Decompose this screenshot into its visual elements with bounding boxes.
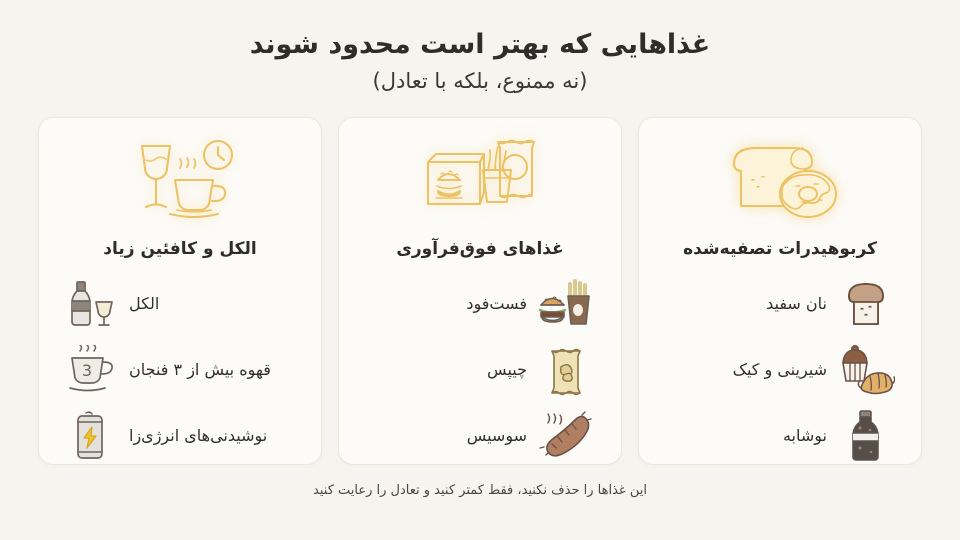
list-item-label: سوسیس [361, 425, 537, 447]
list-item: فست‌فود [351, 276, 609, 332]
footer-note: این غذاها را حذف نکنید، فقط کمتر کنید و … [0, 483, 960, 498]
card-items: فست‌فود چیپس [351, 276, 609, 464]
burger-fries-icon [537, 277, 595, 331]
liquor-bottle-wine-glass-icon [61, 277, 119, 331]
energy-drink-can-icon [61, 409, 119, 463]
list-item: 3 قهوه بیش از ۳ فنجان [51, 342, 309, 398]
cards-row: الکل و کافئین زیاد الکل [38, 117, 922, 465]
list-item: چیپس [351, 342, 609, 398]
list-item: الکل [51, 276, 309, 332]
card-title: غذاهای فوق‌فرآوری [396, 238, 563, 260]
card-items: الکل 3 قهوه بیش از [51, 276, 309, 464]
list-item-label: قهوه بیش از ۳ فنجان [119, 359, 295, 381]
fastfood-box-chips-bag-icon [414, 134, 546, 224]
page-subtitle: (نه ممنوع، بلکه با تعادل) [0, 68, 960, 95]
list-item: نوشیدنی‌های انرژی‌زا [51, 408, 309, 464]
card-items: نان سفید [651, 276, 909, 464]
list-item-label: شیرینی و کیک [661, 359, 837, 381]
bread-loaf-donut-icon [714, 134, 846, 224]
list-item-label: فست‌فود [361, 293, 537, 315]
infographic-page: غذاهایی که بهتر است محدود شوند (نه ممنوع… [0, 0, 960, 540]
list-item: سوسیس [351, 408, 609, 464]
card-alcohol-caffeine: الکل و کافئین زیاد الکل [38, 117, 322, 465]
list-item: نان سفید [651, 276, 909, 332]
card-refined-carbs: کربوهیدرات تصفیه‌شده نان سفید [638, 117, 922, 465]
list-item-label: نان سفید [661, 293, 837, 315]
card-ultra-processed: غذاهای فوق‌فرآوری [338, 117, 622, 465]
header: غذاهایی که بهتر است محدود شوند (نه ممنوع… [0, 28, 960, 95]
wine-glass-coffee-cup-clock-icon [114, 134, 246, 224]
list-item-label: چیپس [361, 359, 537, 381]
list-item-label: الکل [119, 293, 295, 315]
soda-bottle-icon [837, 409, 895, 463]
svg-text:3: 3 [82, 361, 92, 380]
coffee-cup-three-icon: 3 [61, 343, 119, 397]
list-item-label: نوشابه [661, 425, 837, 447]
sausage-icon [537, 409, 595, 463]
list-item-label: نوشیدنی‌های انرژی‌زا [119, 425, 295, 447]
bread-slice-icon [837, 277, 895, 331]
card-title: الکل و کافئین زیاد [103, 238, 256, 260]
list-item: نوشابه [651, 408, 909, 464]
card-title: کربوهیدرات تصفیه‌شده [683, 238, 877, 260]
cupcake-croissant-icon [837, 343, 895, 397]
list-item: شیرینی و کیک [651, 342, 909, 398]
chips-bag-icon [537, 343, 595, 397]
page-title: غذاهایی که بهتر است محدود شوند [0, 28, 960, 63]
